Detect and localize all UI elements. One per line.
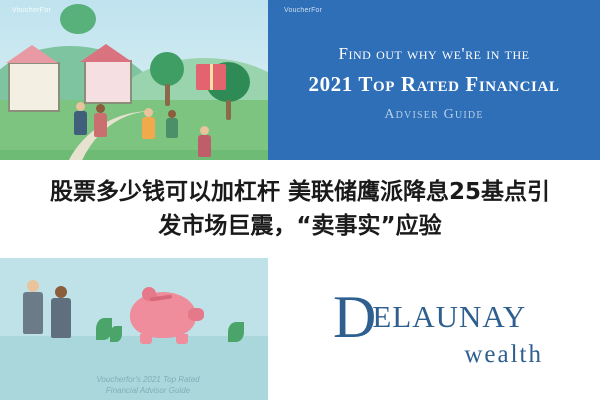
- person-head: [27, 280, 39, 292]
- headline-line-2: 发市场巨震，“卖事实”应验: [158, 209, 441, 243]
- tree-trunk-1: [165, 84, 170, 106]
- image-canvas: VoucherFor Voucherfor's 2021 Top Rated F…: [0, 0, 600, 400]
- person-head: [76, 102, 85, 111]
- house-right: [84, 60, 132, 104]
- logo-wordmark: ELAUNAY: [372, 299, 526, 335]
- tree-top-1: [150, 52, 184, 86]
- person-body: [166, 118, 178, 138]
- piggy-leg-1: [140, 334, 152, 344]
- delaunay-logo: D ELAUNAY wealth: [319, 289, 549, 369]
- watermark-left-bottom-line2: Financial Advisor Guide: [58, 385, 238, 396]
- tree-top-3: [60, 4, 96, 34]
- ad-line-1: Find out why we're in the: [339, 44, 530, 64]
- person-body: [74, 111, 87, 135]
- watermark-left-bottom: Voucherfor's 2021 Top Rated Financial Ad…: [58, 374, 238, 396]
- logo-initial-letter: D: [333, 289, 376, 345]
- person-head: [168, 110, 176, 118]
- watermark-left-top: VoucherFor: [12, 6, 51, 15]
- person-body: [23, 292, 43, 334]
- person-head: [200, 126, 209, 135]
- plant-3: [228, 322, 244, 342]
- delaunay-logo-row: D ELAUNAY: [333, 289, 549, 345]
- person-head: [144, 108, 153, 117]
- right-bottom-logo-panel: D ELAUNAY wealth: [268, 258, 600, 400]
- person-head: [96, 104, 105, 113]
- ad-line-2: 2021 Top Rated Financial: [308, 72, 559, 97]
- house-left: [8, 62, 60, 112]
- person-body: [142, 117, 155, 139]
- roof-left: [6, 45, 58, 63]
- headline-overlay: 股票多少钱可以加杠杆 美联储鹰派降息25基点引 发市场巨震，“卖事实”应验: [0, 160, 600, 258]
- headline-line-1: 股票多少钱可以加杠杆 美联储鹰派降息25基点引: [50, 175, 550, 209]
- watermark-left-bottom-line1: Voucherfor's 2021 Top Rated: [58, 374, 238, 385]
- person-body: [94, 113, 107, 137]
- piggy-leg-2: [176, 334, 188, 344]
- gift-box: [196, 64, 226, 90]
- person-body: [51, 298, 71, 338]
- person-body: [198, 135, 211, 157]
- plant-2: [110, 326, 122, 342]
- ad-line-3: Adviser Guide: [384, 107, 483, 123]
- roof-right: [80, 44, 132, 62]
- tree-trunk-2: [226, 100, 231, 120]
- right-top-ad-panel: VoucherFor Find out why we're in the 202…: [268, 0, 600, 160]
- person-head: [55, 286, 67, 298]
- piggy-snout: [188, 308, 204, 321]
- ad-text-block: Find out why we're in the 2021 Top Rated…: [268, 0, 600, 160]
